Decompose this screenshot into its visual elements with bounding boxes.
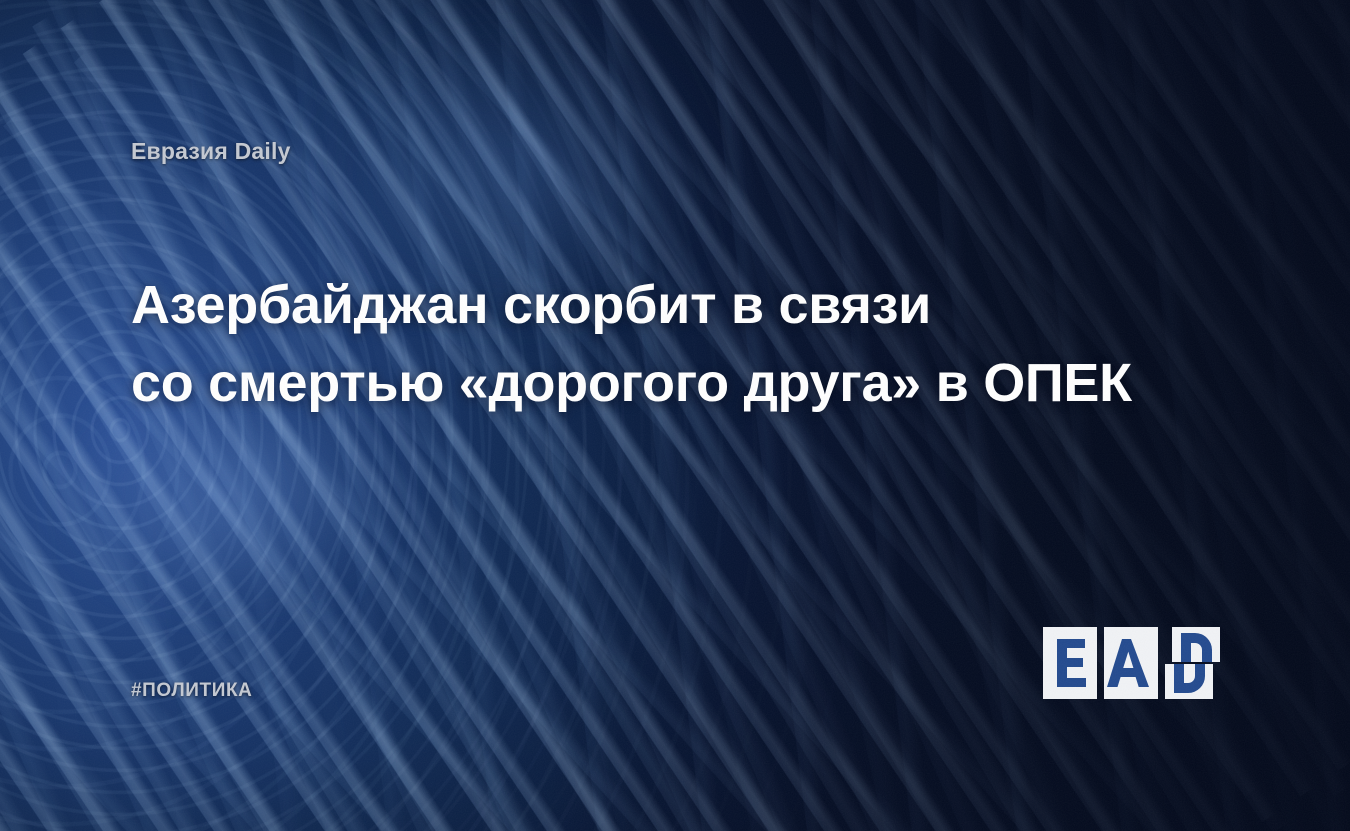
headline: Азербайджан скорбит в связи со смертью «… bbox=[131, 266, 1191, 422]
logo-letter-d-bottom-glyph bbox=[1174, 664, 1205, 693]
headline-line-2: со смертью «дорогого друга» в ОПЕК bbox=[131, 344, 1191, 422]
site-name: Евразия Daily bbox=[131, 138, 291, 165]
logo-letter-d-top-glyph bbox=[1181, 633, 1212, 662]
headline-line-1: Азербайджан скорбит в связи bbox=[131, 266, 1191, 344]
ead-logo[interactable] bbox=[1043, 627, 1220, 699]
logo-letter-e-glyph bbox=[1057, 639, 1086, 687]
category-tag[interactable]: #ПОЛИТИКА bbox=[131, 680, 253, 702]
card-content: Евразия Daily Азербайджан скорбит в связ… bbox=[0, 0, 1350, 831]
news-share-card: Евразия Daily Азербайджан скорбит в связ… bbox=[0, 0, 1350, 831]
logo-letter-a-glyph bbox=[1107, 639, 1149, 687]
